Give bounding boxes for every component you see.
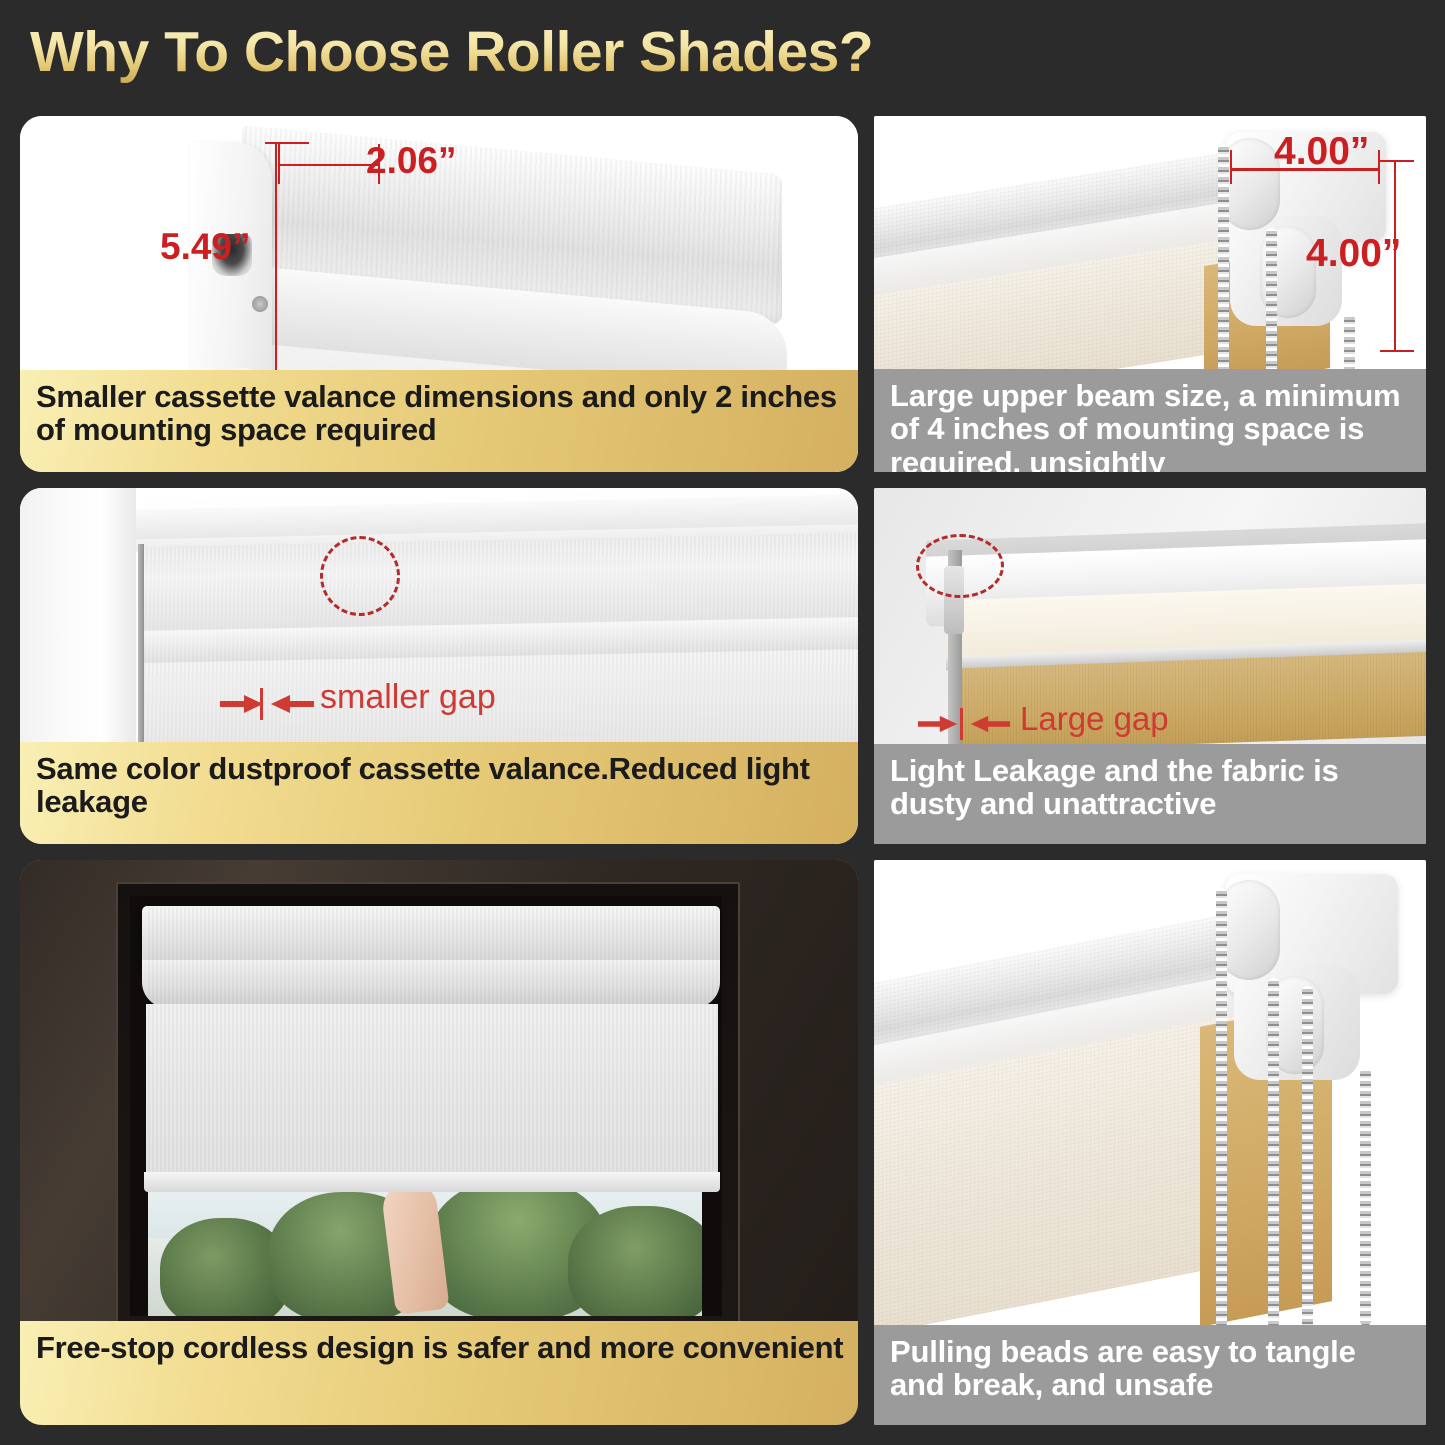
gap-arrow-left-icon bbox=[220, 693, 264, 715]
panel-2-caption-text: Large upper beam size, a minimum of 4 in… bbox=[874, 369, 1426, 472]
infographic-page: Why To Choose Roller Shades? 2.06” bbox=[0, 0, 1445, 1445]
beam-width-label: 4.00” bbox=[1274, 130, 1369, 174]
gap-arrow-right-icon bbox=[970, 714, 1010, 734]
panel-6-pulling-beads: Pulling beads are easy to tangle and bre… bbox=[874, 860, 1426, 1425]
bead-chain-left bbox=[1216, 888, 1227, 1328]
window-frame-left bbox=[20, 488, 136, 778]
panel-5-caption-text: Free-stop cordless design is safer and m… bbox=[20, 1321, 857, 1372]
width-dim-line bbox=[278, 164, 380, 166]
page-header: Why To Choose Roller Shades? bbox=[0, 0, 1445, 104]
beam-width-tick-right bbox=[1378, 150, 1380, 184]
bead-chain-left bbox=[1218, 144, 1229, 382]
beam-height-label: 4.00” bbox=[1306, 232, 1401, 276]
panel-1-smaller-cassette: 2.06” 5.49” Smaller cassette valance dim… bbox=[20, 116, 858, 472]
roller-end-disc bbox=[1218, 880, 1280, 980]
panel-4-light-leakage: Large gap Light Leakage and the fabric i… bbox=[874, 488, 1426, 844]
cassette-screw bbox=[252, 296, 268, 312]
panel-6-caption-text: Pulling beads are easy to tangle and bre… bbox=[874, 1325, 1426, 1410]
panel-6-caption: Pulling beads are easy to tangle and bre… bbox=[874, 1325, 1426, 1425]
width-dimension-label: 2.06” bbox=[366, 140, 457, 182]
panel-5-caption: Free-stop cordless design is safer and m… bbox=[20, 1321, 858, 1425]
panel-1-caption-text: Smaller cassette valance dimensions and … bbox=[20, 370, 858, 455]
bead-chain-middle-2 bbox=[1302, 986, 1313, 1328]
height-dim-tick-top bbox=[265, 142, 309, 144]
height-dimension-label: 5.49” bbox=[160, 226, 251, 268]
bead-chain-middle bbox=[1268, 978, 1279, 1328]
large-gap-label: Large gap bbox=[1020, 700, 1169, 738]
shade-fabric-texture bbox=[146, 906, 718, 1180]
tree bbox=[568, 1206, 702, 1316]
panel-4-caption: Light Leakage and the fabric is dusty an… bbox=[874, 744, 1426, 844]
panel-1-caption: Smaller cassette valance dimensions and … bbox=[20, 370, 858, 472]
beam-height-tick-top bbox=[1380, 160, 1414, 162]
panel-3-caption-text: Same color dustproof cassette valance.Re… bbox=[20, 742, 858, 827]
gap-arrow-right-icon bbox=[270, 693, 314, 715]
roller-end-disc bbox=[1220, 138, 1280, 230]
panel-4-caption-text: Light Leakage and the fabric is dusty an… bbox=[874, 744, 1426, 829]
panel-3-dustproof-valance: smaller gap Same color dustproof cassett… bbox=[20, 488, 858, 844]
gap-arrow-left-icon bbox=[918, 714, 958, 734]
bead-chain-middle bbox=[1266, 228, 1277, 384]
bead-chain-right bbox=[1360, 1068, 1371, 1326]
highlight-circle-icon bbox=[320, 536, 400, 616]
beam-width-tick-left bbox=[1230, 150, 1232, 184]
page-title: Why To Choose Roller Shades? bbox=[30, 19, 873, 85]
shade-bottom-rail bbox=[144, 1172, 720, 1192]
panel-2-large-beam: 4.00” 4.00” Large upper beam size, a min… bbox=[874, 116, 1426, 472]
panel-2-caption: Large upper beam size, a minimum of 4 in… bbox=[874, 369, 1426, 472]
smaller-gap-label: smaller gap bbox=[320, 678, 496, 717]
beam-height-tick-bottom bbox=[1380, 350, 1414, 352]
highlight-circle-icon bbox=[916, 534, 1004, 598]
panel-5-cordless-design: Free-stop cordless design is safer and m… bbox=[20, 860, 858, 1425]
gap-marker bbox=[960, 708, 963, 740]
panel-3-caption: Same color dustproof cassette valance.Re… bbox=[20, 742, 858, 844]
